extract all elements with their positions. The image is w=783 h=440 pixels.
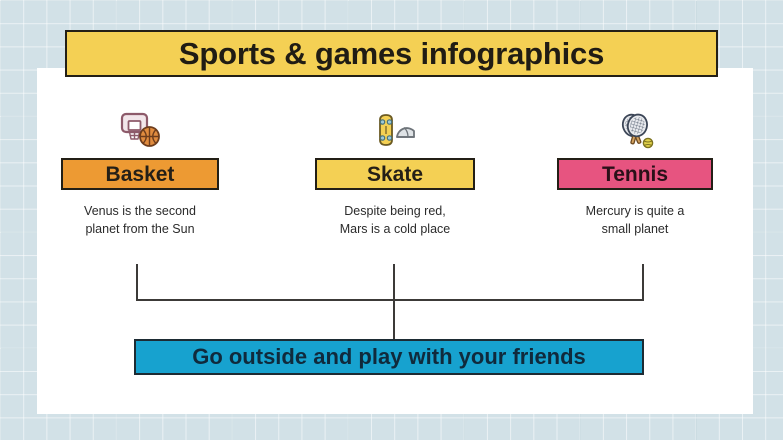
label-tennis-text: Tennis — [602, 164, 668, 185]
column-tennis: Tennis Mercury is quite a small planet — [557, 108, 713, 238]
label-tennis[interactable]: Tennis — [557, 158, 713, 190]
connector-line-tennis — [642, 264, 644, 301]
description-tennis-line-2: small planet — [557, 220, 713, 238]
description-tennis: Mercury is quite a small planet — [557, 202, 713, 238]
label-skate[interactable]: Skate — [315, 158, 475, 190]
cta-banner[interactable]: Go outside and play with your friends — [134, 339, 644, 375]
label-basket-text: Basket — [106, 164, 175, 185]
tennis-rackets-icon — [614, 108, 656, 154]
label-skate-text: Skate — [367, 164, 423, 185]
skateboard-helmet-icon — [374, 108, 416, 154]
description-tennis-line-1: Mercury is quite a — [557, 202, 713, 220]
label-basket[interactable]: Basket — [61, 158, 219, 190]
cta-text: Go outside and play with your friends — [192, 346, 586, 368]
slide-canvas: Sports & games infographics Basket Venus… — [0, 0, 783, 440]
column-basket: Basket Venus is the second planet from t… — [61, 108, 219, 238]
basketball-hoop-icon — [119, 108, 161, 154]
description-basket-line-1: Venus is the second — [61, 202, 219, 220]
connector-horizontal-bar — [136, 299, 644, 301]
description-skate-line-2: Mars is a cold place — [315, 220, 475, 238]
description-skate-line-1: Despite being red, — [315, 202, 475, 220]
column-skate: Skate Despite being red, Mars is a cold … — [315, 108, 475, 238]
page-title: Sports & games infographics — [179, 38, 604, 69]
description-basket-line-2: planet from the Sun — [61, 220, 219, 238]
connector-line-skate — [393, 264, 395, 301]
connector-line-basket — [136, 264, 138, 301]
description-skate: Despite being red, Mars is a cold place — [315, 202, 475, 238]
description-basket: Venus is the second planet from the Sun — [61, 202, 219, 238]
title-banner: Sports & games infographics — [65, 30, 718, 77]
connector-stem-to-cta — [393, 299, 395, 341]
